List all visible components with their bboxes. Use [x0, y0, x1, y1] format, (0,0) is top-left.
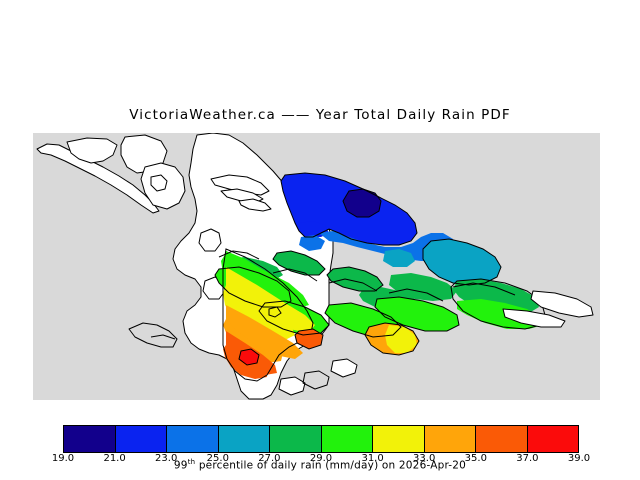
map-panel[interactable]	[33, 133, 600, 400]
colorbar-segment-33.0-35.0[interactable]	[425, 426, 477, 452]
colorbar-segment-23.0-25.0[interactable]	[167, 426, 219, 452]
coast-outline-white-islet-s3	[303, 371, 329, 389]
coast-outline-white-islet-s1	[331, 359, 357, 377]
page-title: VictoriaWeather.ca —— Year Total Daily R…	[0, 107, 640, 123]
coast-outline-white-islet-s2	[279, 377, 305, 395]
colorbar-segment-25.0-27.0[interactable]	[219, 426, 271, 452]
colorbar-segment-21.0-23.0[interactable]	[116, 426, 168, 452]
caption-percentile-number: 99	[174, 460, 188, 472]
contour-fill-27-29-b	[327, 267, 383, 291]
colorbar-segment-27.0-29.0[interactable]	[270, 426, 322, 452]
coast-sound-line	[129, 323, 177, 347]
colorbar-swatches[interactable]	[63, 425, 579, 453]
coast-river-line	[151, 335, 175, 339]
colorbar-segment-31.0-33.0[interactable]	[373, 426, 425, 452]
colorbar-segment-37.0-39.0[interactable]	[528, 426, 579, 452]
colorbar-caption: 99th percentile of daily rain (mm/day) o…	[0, 458, 640, 472]
weather-map-page: VictoriaWeather.ca —— Year Total Daily R…	[0, 0, 640, 480]
colorbar-segment-19.0-21.0[interactable]	[64, 426, 116, 452]
map-canvas[interactable]	[33, 133, 600, 400]
colorbar-segment-29.0-31.0[interactable]	[322, 426, 374, 452]
landmass-group-northwest	[37, 135, 185, 213]
caption-text: percentile of daily rain (mm/day) on 202…	[195, 460, 466, 472]
contour-fill-25-27-east	[423, 239, 501, 285]
colorbar-segment-35.0-37.0[interactable]	[476, 426, 528, 452]
